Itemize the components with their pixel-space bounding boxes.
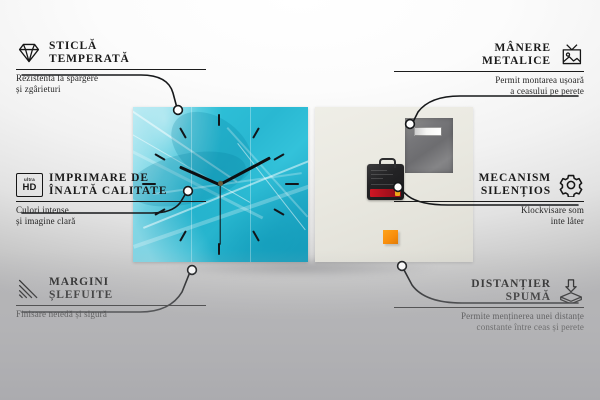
feature-heading: MECANISMSILENȚIOS bbox=[394, 172, 584, 198]
feature-heading: MARGINIȘLEFUITE bbox=[16, 276, 206, 302]
mechanism-hook bbox=[379, 158, 396, 168]
picture-hanger-icon bbox=[558, 43, 584, 67]
feature-title: MÂNEREMETALICE bbox=[482, 42, 551, 68]
feature-subtitle: Culori intenseși imagine clară bbox=[16, 205, 206, 227]
ultra-hd-icon: ultra HD bbox=[16, 173, 42, 197]
feature-divider bbox=[394, 307, 584, 308]
metal-hanger-plate bbox=[405, 118, 453, 173]
feature-mecanism-silentios[interactable]: MECANISMSILENȚIOS Klockvisare sominte lå… bbox=[394, 172, 584, 227]
polished-edge-icon bbox=[16, 277, 42, 301]
feature-heading: ultra HD IMPRIMARE DEÎNALTĂ CALITATE bbox=[16, 172, 206, 198]
feature-title: STICLĂTEMPERATĂ bbox=[49, 40, 130, 66]
feature-divider bbox=[16, 69, 206, 70]
clock-tick-12 bbox=[218, 114, 220, 126]
feature-title: DISTANȚIERSPUMĂ bbox=[471, 278, 551, 304]
clock-tick-6 bbox=[218, 243, 220, 255]
clock-second-hand bbox=[219, 185, 220, 245]
gear-icon bbox=[558, 173, 584, 197]
hanger-slot bbox=[414, 127, 442, 136]
foam-spacer-icon bbox=[558, 279, 584, 303]
feature-subtitle: Rezistentă la spargereși zgârieturi bbox=[16, 73, 206, 95]
hd-badge-main: HD bbox=[22, 183, 36, 193]
feature-title: MECANISMSILENȚIOS bbox=[479, 172, 551, 198]
feature-subtitle: Klockvisare sominte låter bbox=[394, 205, 584, 227]
clock-tick-3 bbox=[285, 183, 299, 185]
feature-heading: MÂNEREMETALICE bbox=[394, 42, 584, 68]
feature-sticla-temperata[interactable]: STICLĂTEMPERATĂ Rezistentă la spargereși… bbox=[16, 40, 206, 95]
infographic-canvas: STICLĂTEMPERATĂ Rezistentă la spargereși… bbox=[0, 0, 600, 400]
foam-spacer bbox=[383, 230, 398, 244]
feature-divider bbox=[394, 71, 584, 72]
feature-distantier-spuma[interactable]: DISTANȚIERSPUMĂ Permite menținerea unei … bbox=[394, 278, 584, 333]
feature-subtitle: Permite menținerea unei distanțeconstant… bbox=[394, 311, 584, 333]
feature-divider bbox=[394, 201, 584, 202]
feature-manere-metalice[interactable]: MÂNEREMETALICE Permit montarea ușoarăa c… bbox=[394, 42, 584, 97]
feature-margini-slefuite[interactable]: MARGINIȘLEFUITE Finisare netedă și sigur… bbox=[16, 276, 206, 320]
clock-hub bbox=[218, 181, 223, 186]
feature-title: IMPRIMARE DEÎNALTĂ CALITATE bbox=[49, 172, 167, 198]
feature-divider bbox=[16, 305, 206, 306]
feature-imprimare-inalta-calitate[interactable]: ultra HD IMPRIMARE DEÎNALTĂ CALITATE Cul… bbox=[16, 172, 206, 227]
feature-subtitle: Finisare netedă și sigură bbox=[16, 309, 206, 320]
feature-heading: STICLĂTEMPERATĂ bbox=[16, 40, 206, 66]
diamond-icon bbox=[16, 41, 42, 65]
feature-heading: DISTANȚIERSPUMĂ bbox=[394, 278, 584, 304]
feature-divider bbox=[16, 201, 206, 202]
feature-title: MARGINIȘLEFUITE bbox=[49, 276, 113, 302]
feature-subtitle: Permit montarea ușoarăa ceasului pe pere… bbox=[394, 75, 584, 97]
